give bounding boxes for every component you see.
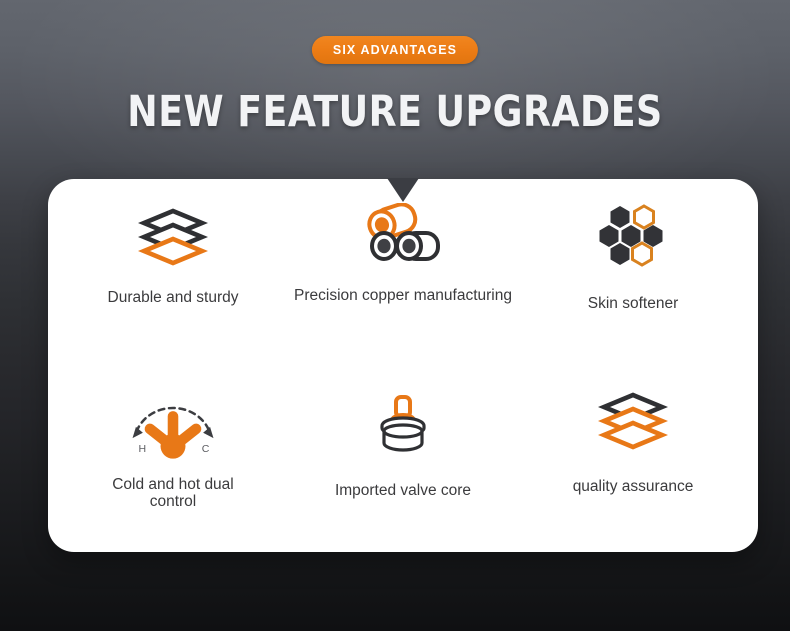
feature-item-hot-cold: H C Cold and hot dual control [58,368,288,541]
feature-label: Imported valve core [335,482,471,499]
hexagon-cluster-svg [596,203,670,267]
lever-cold-marker: C [202,442,210,454]
feature-label: quality assurance [573,478,694,495]
feature-item-durable: Durable and sturdy [58,195,288,368]
features-card: Durable and sturdy [48,179,758,552]
valve-core-icon [355,382,451,462]
layers-stack-orange-icon [585,382,681,460]
feature-label: Precision copper manufacturing [294,287,512,304]
feature-label: Durable and sturdy [108,289,239,306]
feature-item-copper: Precision copper manufacturing [288,195,518,368]
copper-pipes-svg [364,203,442,265]
card-notch-triangle-icon [387,178,419,202]
page-title: NEW FEATURE UPGRADES [24,90,767,135]
status-badge: SIX ADVANTAGES [312,36,478,64]
lever-hot-marker: H [138,442,146,454]
valve-core-svg [370,391,436,453]
hot-cold-lever-svg: H C [125,388,221,464]
feature-label: Cold and hot dual control [112,476,234,511]
feature-item-valve-core: Imported valve core [288,368,518,541]
feature-item-skin-softener: Skin softener [518,195,748,368]
layers-stack-svg [138,208,208,266]
copper-pipes-icon [355,195,451,273]
feature-label: Skin softener [588,295,678,312]
layers-stack-icon [125,195,221,279]
hot-cold-lever-icon: H C [125,382,221,470]
hexagon-cluster-icon [585,195,681,275]
feature-item-quality: quality assurance [518,368,748,541]
promo-banner: SIX ADVANTAGES NEW FEATURE UPGRADES Dura… [0,0,790,631]
layers-stack-orange-svg [598,392,668,450]
features-grid: Durable and sturdy [48,179,758,552]
badge-label: SIX ADVANTAGES [333,43,457,57]
